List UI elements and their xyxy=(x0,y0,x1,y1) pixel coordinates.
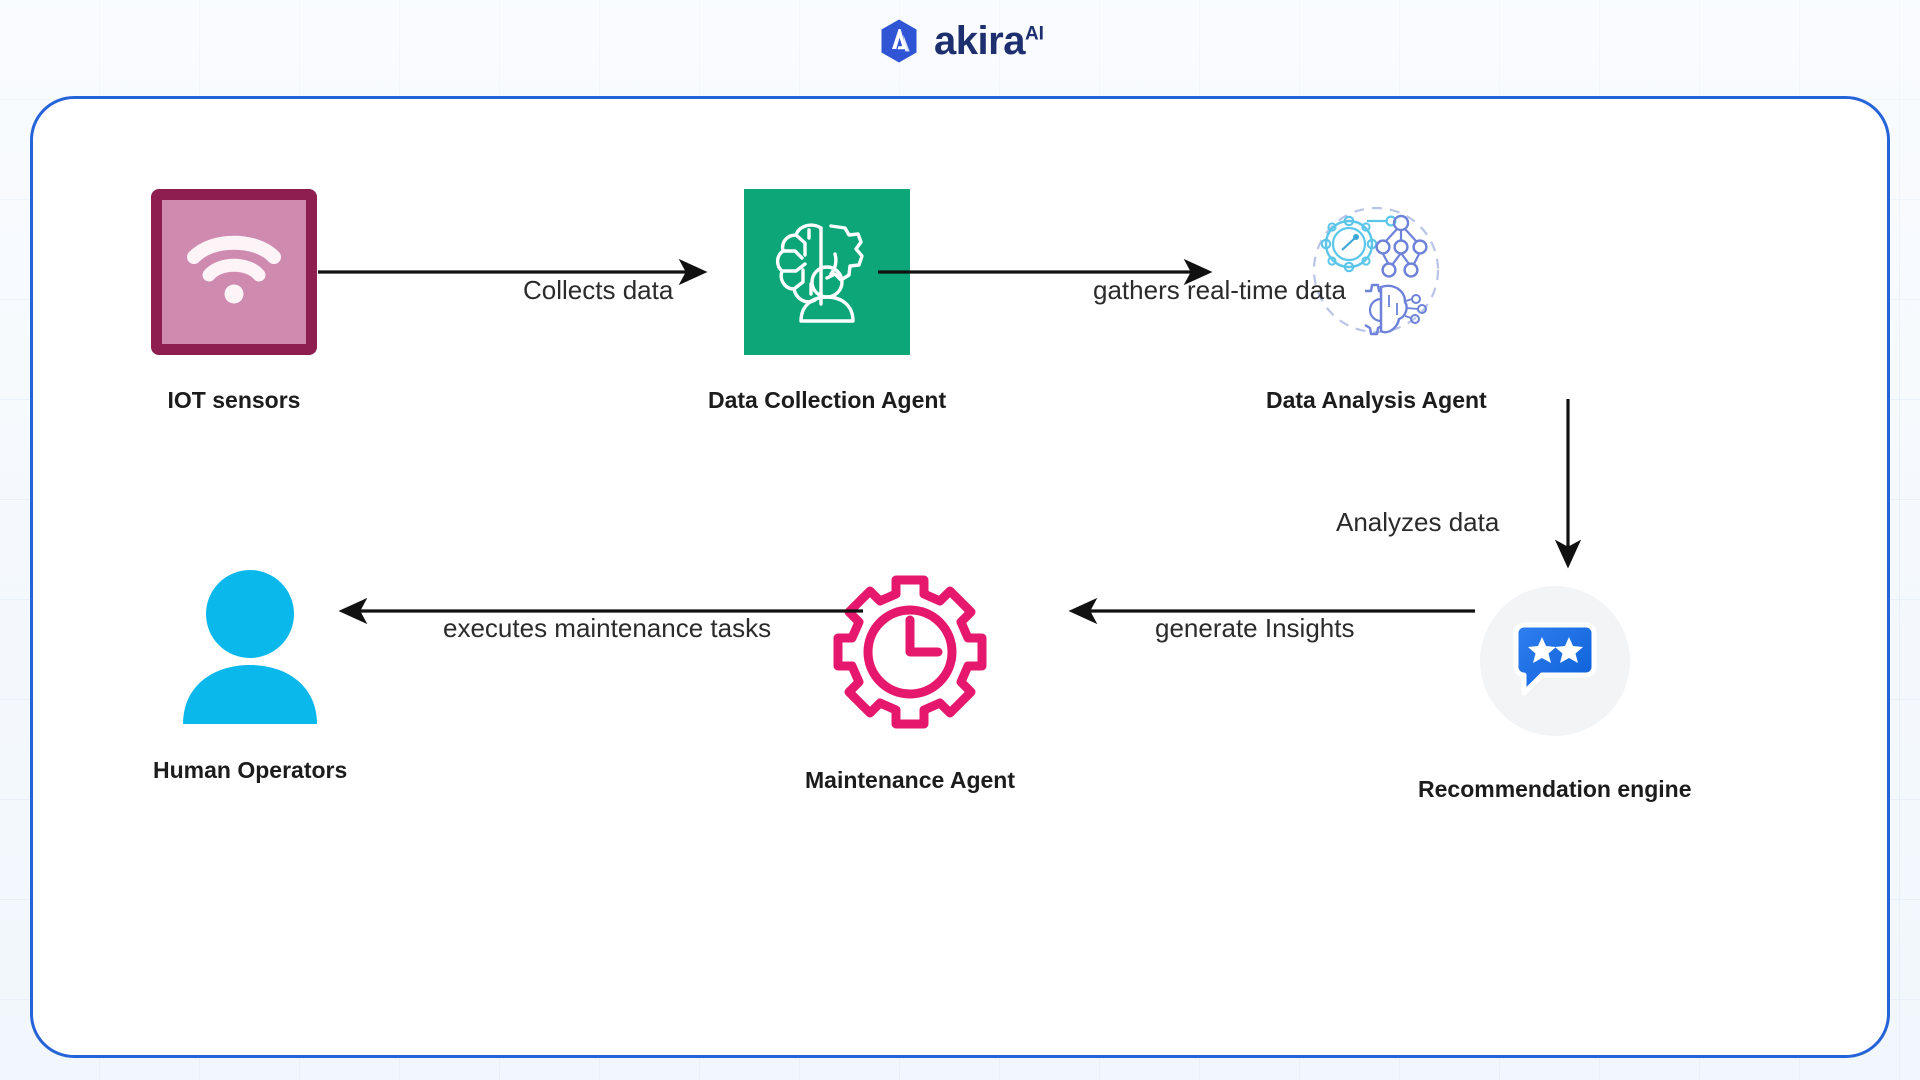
node-label-iot-sensors: IOT sensors xyxy=(168,387,301,414)
page-header: akiraAI xyxy=(0,0,1920,82)
node-label-data-collection-agent: Data Collection Agent xyxy=(708,387,946,414)
edge-label-generate-insights: generate Insights xyxy=(1155,613,1354,644)
brand-logo: akiraAI xyxy=(876,18,1044,64)
brain-gear-person-icon xyxy=(765,208,889,337)
chat-bubble-two-stars-icon xyxy=(1512,619,1598,704)
data-collection-agent-tile xyxy=(744,189,910,355)
node-label-data-analysis-agent: Data Analysis Agent xyxy=(1266,387,1487,414)
node-label-recommendation-engine: Recommendation engine xyxy=(1418,776,1691,803)
person-silhouette-icon xyxy=(175,564,325,729)
brand-superscript: AI xyxy=(1025,24,1044,45)
node-human-operators[interactable]: Human Operators xyxy=(153,564,347,784)
brand-name: akiraAI xyxy=(934,21,1044,61)
network-analysis-circle-icon xyxy=(1301,195,1451,350)
edge-label-analyzes-data: Analyzes data xyxy=(1336,507,1499,538)
edge-label-gathers-realtime-data: gathers real-time data xyxy=(1093,275,1346,306)
node-maintenance-agent[interactable]: Maintenance Agent xyxy=(805,569,1015,794)
human-operators-tile xyxy=(168,564,333,729)
maintenance-agent-tile xyxy=(825,569,995,739)
flow-diagram: Collects data gathers real-time data Ana… xyxy=(33,99,1887,1055)
data-analysis-agent-tile xyxy=(1293,189,1459,355)
node-recommendation-engine[interactable]: Recommendation engine xyxy=(1418,586,1691,803)
brand-name-text: akira xyxy=(934,19,1025,63)
node-label-human-operators: Human Operators xyxy=(153,757,347,784)
akira-hexagon-logo-icon xyxy=(876,18,922,64)
iot-sensors-tile xyxy=(151,189,317,355)
wifi-signal-icon xyxy=(186,230,282,315)
diagram-card: Collects data gathers real-time data Ana… xyxy=(30,96,1890,1058)
node-label-maintenance-agent: Maintenance Agent xyxy=(805,767,1015,794)
recommendation-engine-tile xyxy=(1480,586,1630,736)
edge-label-executes-maintenance-tasks: executes maintenance tasks xyxy=(443,613,771,644)
gear-clock-icon xyxy=(830,572,990,737)
node-data-collection-agent[interactable]: Data Collection Agent xyxy=(708,189,946,414)
edge-label-collects-data: Collects data xyxy=(523,275,673,306)
node-iot-sensors[interactable]: IOT sensors xyxy=(151,189,317,414)
